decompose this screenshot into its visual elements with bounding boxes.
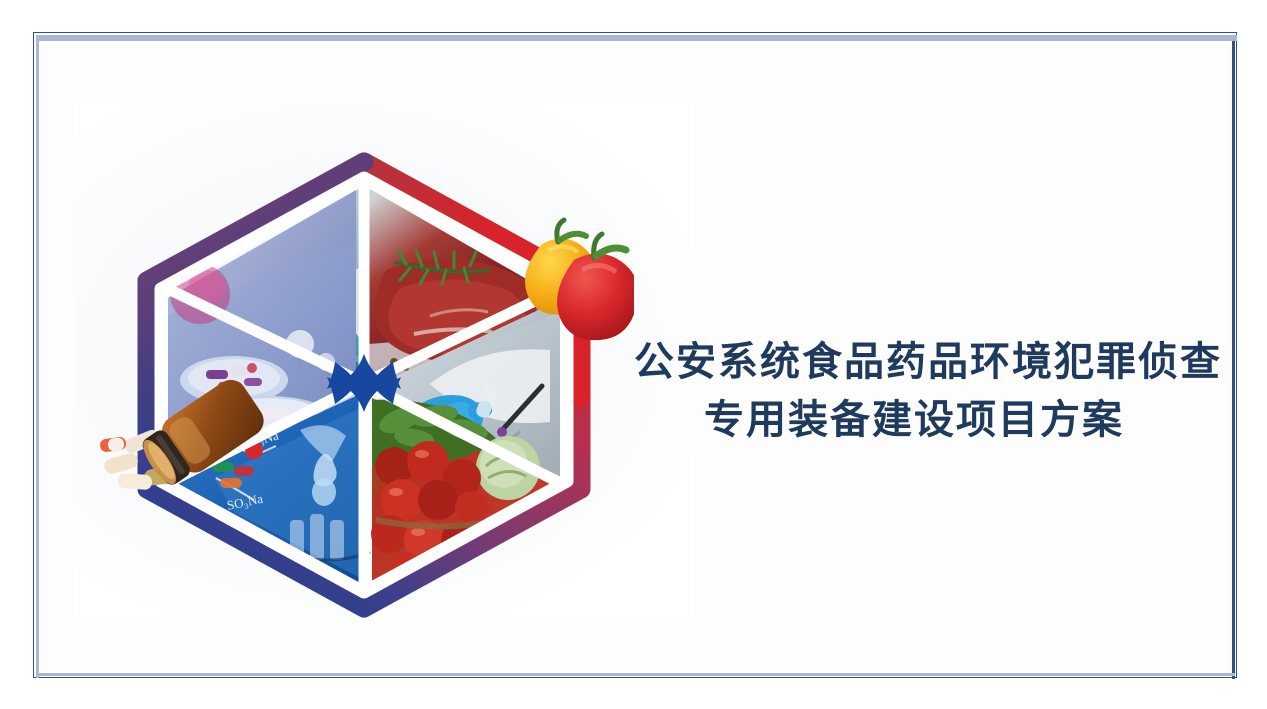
- frame-rule-right: [1232, 35, 1235, 679]
- slide-root: SO₃Na SO₃Na: [0, 0, 1267, 709]
- frame-rule-bottom: [36, 673, 1235, 676]
- title-line-1: 公安系统食品药品环境犯罪侦查: [634, 333, 1194, 391]
- title-line-2: 专用装备建设项目方案: [634, 391, 1194, 449]
- slide-canvas: SO₃Na SO₃Na: [33, 32, 1237, 678]
- page-title: 公安系统食品药品环境犯罪侦查 专用装备建设项目方案: [634, 333, 1194, 449]
- hexagon-shield-collage: SO₃Na SO₃Na: [94, 148, 634, 618]
